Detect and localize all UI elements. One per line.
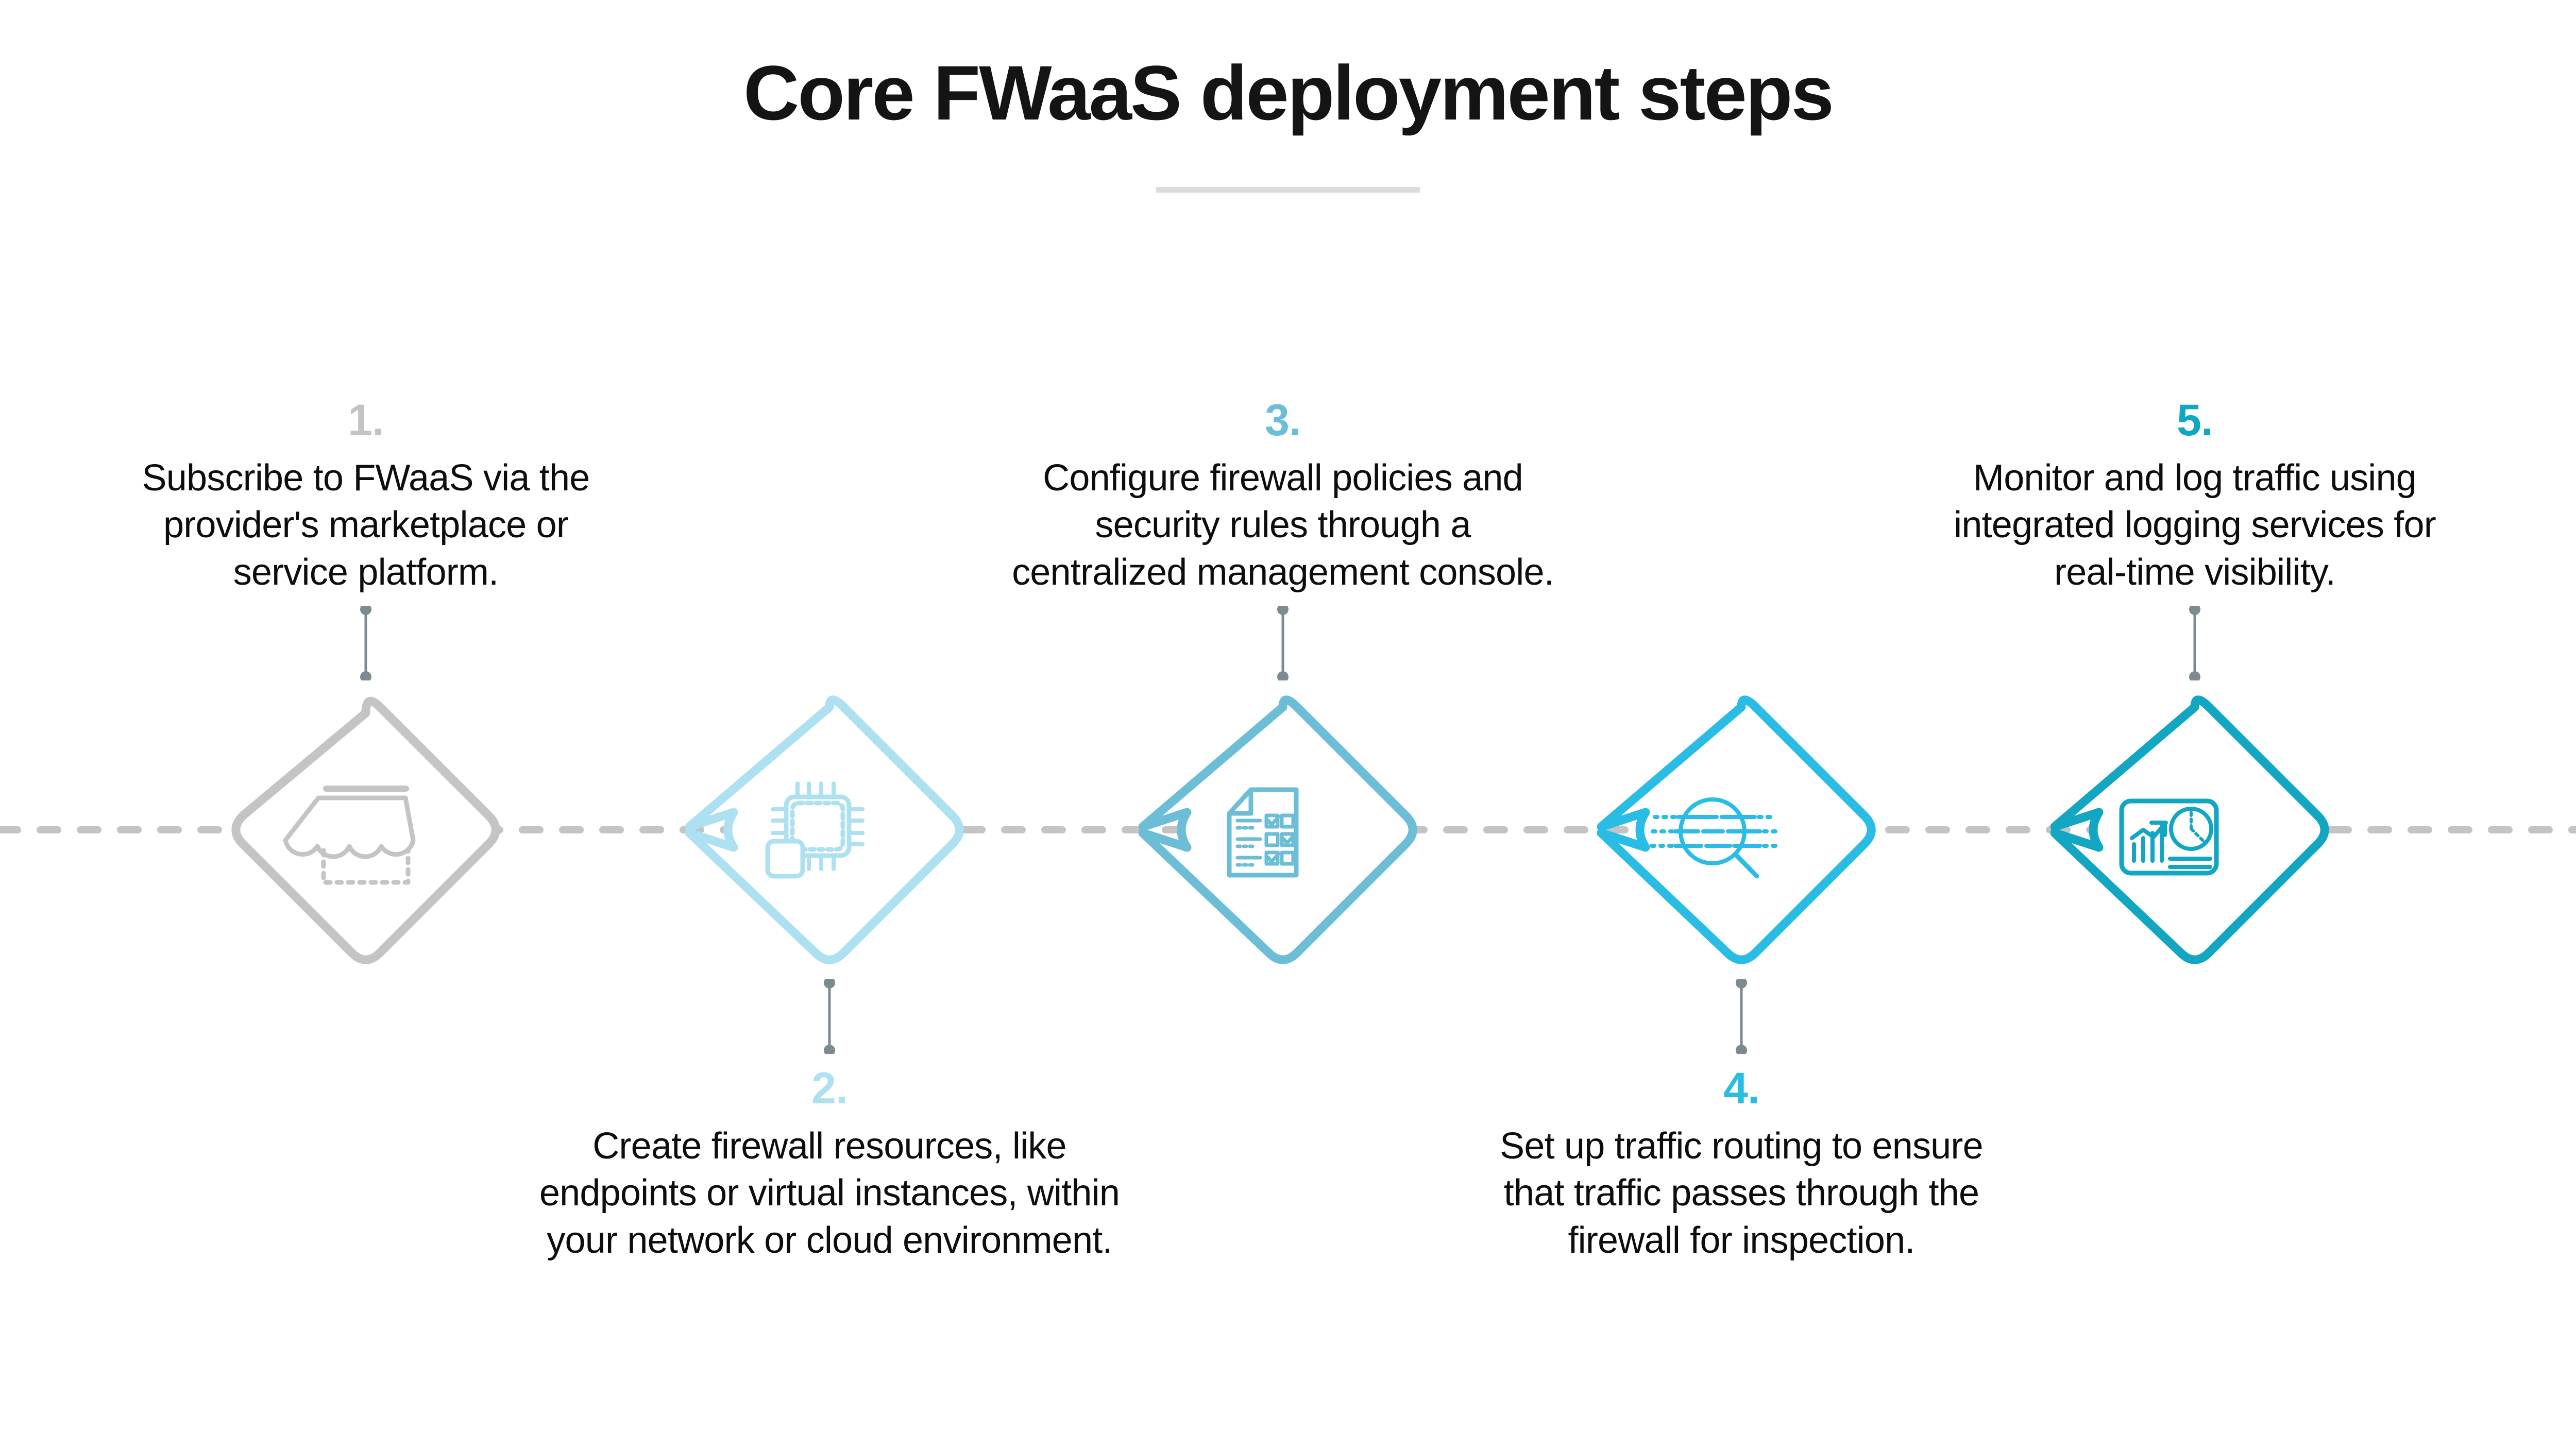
- step-diamond-1[interactable]: [222, 686, 510, 974]
- step-number-3: 3.: [845, 398, 1721, 442]
- step-diamond-5[interactable]: [2050, 686, 2339, 974]
- step-description-3: Configure firewall policies andsecurity …: [845, 455, 1721, 596]
- step-textblock-1: 1.Subscribe to FWaaS via theprovider's m…: [0, 398, 804, 596]
- step-description-line: Subscribe to FWaaS via the: [0, 455, 804, 502]
- step-description-line: real-time visibility.: [1757, 549, 2576, 596]
- step-number-2: 2.: [392, 1066, 1267, 1111]
- step-description-line: Monitor and log traffic using: [1757, 455, 2576, 502]
- step-number-4: 4.: [1303, 1066, 2179, 1111]
- step-description-line: service platform.: [0, 549, 804, 596]
- steps-stage: 1.Subscribe to FWaaS via theprovider's m…: [0, 0, 2576, 1449]
- step-description-line: that traffic passes through the: [1303, 1170, 2179, 1217]
- step-description-1: Subscribe to FWaaS via theprovider's mar…: [0, 455, 804, 596]
- step-description-5: Monitor and log traffic usingintegrated …: [1757, 455, 2576, 596]
- step-description-4: Set up traffic routing to ensurethat tra…: [1303, 1123, 2179, 1264]
- step-description-line: Configure firewall policies and: [845, 455, 1721, 502]
- step-diamond-3[interactable]: [1139, 686, 1427, 974]
- step-textblock-2: 2.Create firewall resources, likeendpoin…: [392, 1066, 1267, 1264]
- step-textblock-5: 5.Monitor and log traffic usingintegrate…: [1757, 398, 2576, 596]
- step-textblock-4: 4.Set up traffic routing to ensurethat t…: [1303, 1066, 2179, 1264]
- step-connector-5: [2187, 606, 2203, 680]
- step-connector-4: [1733, 979, 1750, 1054]
- step-connector-3: [1275, 606, 1291, 680]
- step-number-5: 5.: [1757, 398, 2576, 442]
- step-description-line: provider's marketplace or: [0, 502, 804, 549]
- step-connector-2: [821, 979, 838, 1054]
- step-diamond-2[interactable]: [685, 686, 974, 974]
- step-description-line: Create firewall resources, like: [392, 1123, 1267, 1170]
- step-diamond-4[interactable]: [1597, 686, 1886, 974]
- step-description-line: centralized management console.: [845, 549, 1721, 596]
- step-description-line: integrated logging services for: [1757, 502, 2576, 549]
- step-description-line: security rules through a: [845, 502, 1721, 549]
- step-number-1: 1.: [0, 398, 804, 442]
- step-description-2: Create firewall resources, likeendpoints…: [392, 1123, 1267, 1264]
- step-description-line: Set up traffic routing to ensure: [1303, 1123, 2179, 1170]
- step-description-line: firewall for inspection.: [1303, 1217, 2179, 1264]
- step-connector-1: [358, 606, 374, 680]
- step-description-line: endpoints or virtual instances, within: [392, 1170, 1267, 1217]
- step-description-line: your network or cloud environment.: [392, 1217, 1267, 1264]
- step-textblock-3: 3.Configure firewall policies andsecurit…: [845, 398, 1721, 596]
